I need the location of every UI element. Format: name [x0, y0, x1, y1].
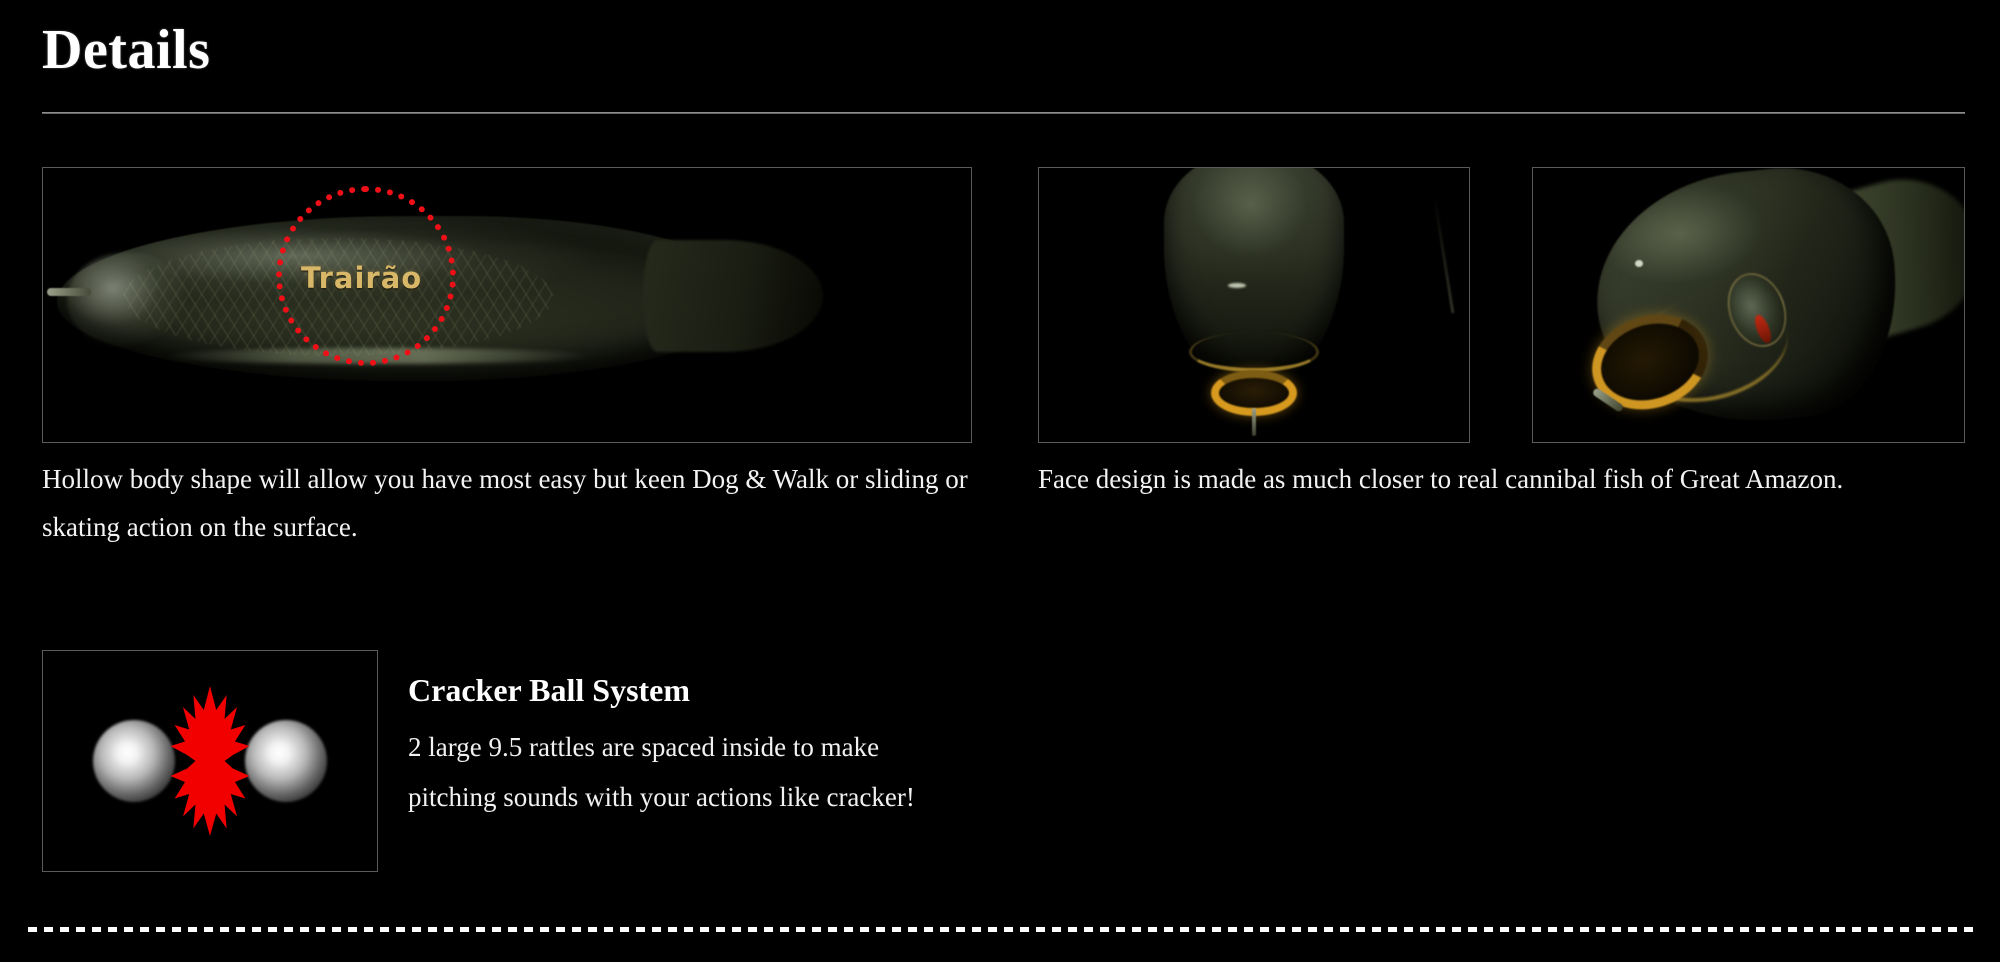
feature-description: 2 large 9.5 rattles are spaced inside to…: [408, 722, 968, 822]
photo-stage-side-view: Trairão: [43, 168, 971, 442]
rattle-ball-right-icon: [245, 720, 327, 802]
product-image-face-angle[interactable]: [1532, 167, 1965, 443]
lure-jaw-arc: [1189, 332, 1319, 372]
photo-stage-cracker-ball: [43, 651, 377, 871]
cracker-ball-image[interactable]: [42, 650, 378, 872]
product-image-face-front[interactable]: [1038, 167, 1470, 443]
lure-nose-hook: [47, 288, 91, 296]
caption-left: Hollow body shape will allow you have mo…: [42, 455, 972, 551]
bottom-dotted-divider: [28, 927, 1976, 932]
rattle-ball-left-icon: [93, 720, 175, 802]
feature-title: Cracker Ball System: [408, 672, 690, 709]
product-image-side-view[interactable]: Trairão: [42, 167, 972, 443]
dashed-highlight-circle-icon: [276, 186, 456, 366]
lure-specular-highlight: [1635, 260, 1643, 267]
title-divider: [42, 112, 1965, 114]
photo-stage-face-front: [1039, 168, 1469, 442]
lure-tail-shape: [643, 240, 823, 352]
details-section: Details Trairão: [0, 0, 2000, 962]
photo-stage-face-angle: [1533, 168, 1964, 442]
lure-gill-line: [1433, 195, 1455, 314]
page-title: Details: [42, 22, 210, 78]
lure-front-hook: [1252, 408, 1256, 436]
caption-right: Face design is made as much closer to re…: [1038, 455, 1938, 503]
